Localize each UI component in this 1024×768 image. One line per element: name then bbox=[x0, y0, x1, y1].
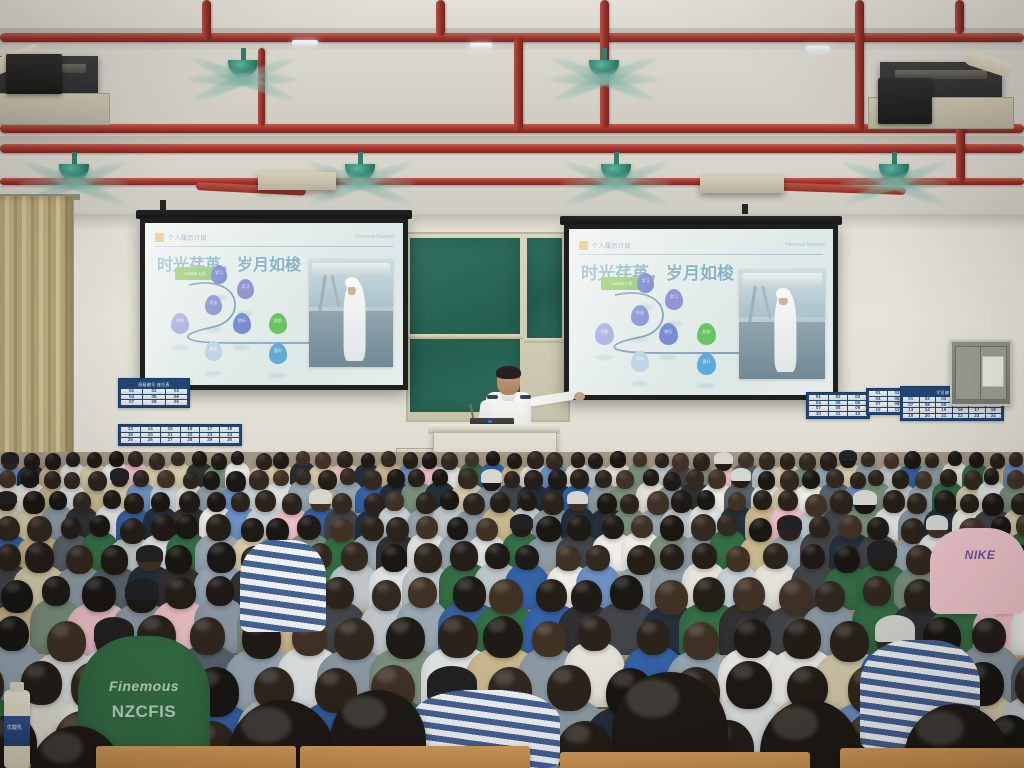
audience-cap bbox=[777, 515, 803, 531]
hair-highlight bbox=[518, 547, 529, 555]
number-cell: 10 bbox=[809, 412, 828, 417]
hair-highlight bbox=[570, 517, 581, 525]
ceiling-light-1 bbox=[292, 40, 318, 45]
audience-head bbox=[663, 472, 682, 492]
hair-highlight bbox=[466, 494, 476, 501]
timeline-pin-1: 学习 bbox=[637, 273, 654, 293]
hair-highlight bbox=[729, 548, 740, 556]
hair-highlight bbox=[582, 618, 597, 629]
number-cell: 09 bbox=[848, 406, 867, 411]
hair-highlight bbox=[870, 471, 877, 476]
audience-head bbox=[441, 452, 458, 470]
sprinkler-pipe-drop-1 bbox=[202, 0, 211, 40]
audience-head bbox=[536, 516, 561, 543]
hair-highlight bbox=[626, 679, 679, 718]
number-board-right-inner: 010203040506070809101112 bbox=[806, 392, 870, 419]
hair-highlight bbox=[908, 581, 923, 592]
hair-highlight bbox=[673, 492, 683, 499]
audience-head bbox=[171, 452, 185, 467]
hair-highlight bbox=[182, 492, 192, 499]
window-curtain bbox=[0, 196, 74, 486]
sprinkler-pipe-drop-2 bbox=[436, 0, 445, 36]
drink-bottle: 优酸乳 bbox=[4, 690, 30, 768]
audience-head bbox=[830, 621, 868, 662]
audience-head bbox=[982, 493, 1004, 516]
hair-highlight bbox=[985, 494, 995, 501]
hair-highlight bbox=[376, 582, 389, 592]
hair-highlight bbox=[752, 519, 763, 527]
hair-highlight bbox=[241, 707, 291, 743]
pin-label: 毕业 bbox=[210, 300, 218, 306]
audience-head bbox=[341, 542, 368, 570]
number-cell: 22 bbox=[953, 414, 969, 419]
audience-head bbox=[297, 515, 320, 540]
hair-highlight bbox=[29, 544, 42, 554]
audience-head bbox=[671, 490, 693, 513]
hair-highlight bbox=[488, 618, 506, 632]
hair-highlight bbox=[252, 471, 261, 477]
audience-head bbox=[416, 492, 436, 514]
audience-cap bbox=[125, 578, 159, 600]
hair-highlight bbox=[454, 543, 467, 552]
hair-highlight bbox=[740, 453, 747, 458]
pin-label: 航行 bbox=[238, 318, 246, 324]
audience-head bbox=[49, 491, 67, 510]
audience-head bbox=[892, 470, 909, 488]
audience-head bbox=[655, 580, 687, 614]
hair-highlight bbox=[552, 668, 572, 683]
hair-highlight bbox=[782, 472, 791, 479]
audience-head bbox=[686, 469, 704, 488]
hair-highlight bbox=[985, 469, 992, 474]
hair-highlight bbox=[127, 494, 136, 501]
audience-cap bbox=[0, 491, 17, 504]
number-cell: 23 bbox=[969, 414, 985, 419]
hair-highlight bbox=[574, 582, 588, 593]
timeline-pin-1: 学习 bbox=[211, 265, 227, 284]
audience-head bbox=[637, 619, 670, 654]
hair-highlight bbox=[687, 624, 704, 636]
audience-head bbox=[61, 517, 82, 539]
panel-door-left bbox=[955, 346, 983, 401]
audience-head bbox=[683, 622, 719, 661]
presenter-hair bbox=[496, 366, 521, 379]
number-cell: 08 bbox=[143, 400, 164, 405]
hair-highlight bbox=[173, 452, 179, 457]
number-cell: 16 bbox=[953, 408, 969, 413]
slide-photo-left bbox=[309, 259, 393, 367]
audience-head bbox=[109, 451, 124, 467]
audience-head bbox=[363, 470, 382, 490]
hair-highlight bbox=[488, 544, 499, 552]
hair-highlight bbox=[244, 520, 254, 528]
hair-highlight bbox=[23, 470, 31, 476]
hair-highlight bbox=[45, 578, 58, 588]
hair-highlight bbox=[787, 621, 805, 634]
hair-highlight bbox=[194, 619, 210, 631]
pin-label: 毕业 bbox=[636, 310, 644, 316]
audience-head bbox=[489, 579, 522, 614]
audience-head bbox=[25, 542, 54, 572]
audience-head bbox=[207, 542, 236, 573]
hair-highlight bbox=[366, 494, 375, 501]
audience-head bbox=[1007, 470, 1024, 489]
audience-head bbox=[408, 577, 437, 608]
hair-highlight bbox=[966, 471, 974, 477]
audience-head bbox=[556, 546, 580, 572]
audience-head bbox=[42, 576, 70, 606]
audience-head bbox=[416, 516, 438, 539]
audience-head bbox=[597, 493, 617, 514]
audience-head bbox=[87, 452, 102, 468]
ceiling-light-2 bbox=[470, 43, 492, 48]
hair-highlight bbox=[600, 495, 609, 502]
audience-head bbox=[386, 617, 425, 659]
audience-head bbox=[176, 514, 199, 538]
audience-head bbox=[296, 451, 310, 466]
audience-head bbox=[631, 515, 653, 538]
number-cell: 02 bbox=[829, 395, 848, 400]
audience-head bbox=[231, 451, 245, 466]
hair-highlight bbox=[90, 472, 99, 478]
number-board-header: 班级编号 座位表 bbox=[121, 381, 187, 388]
number-cell: 20 bbox=[920, 414, 936, 419]
hair-highlight bbox=[317, 453, 324, 458]
hair-highlight bbox=[339, 621, 357, 635]
hair-highlight bbox=[169, 547, 181, 556]
audience-head bbox=[815, 581, 845, 613]
timeline-pin-7: 值班 bbox=[205, 341, 222, 361]
audience-head bbox=[206, 576, 234, 606]
audience-head bbox=[458, 468, 477, 488]
audience-head bbox=[809, 516, 830, 538]
audience-cap bbox=[853, 490, 877, 505]
pin-label: 任职 bbox=[601, 329, 609, 335]
number-cell: 25 bbox=[121, 438, 140, 443]
pin-label: 晋升 bbox=[274, 348, 282, 354]
hair-highlight bbox=[828, 470, 836, 476]
photo-officer-face bbox=[779, 297, 788, 306]
number-cell: 24 bbox=[986, 414, 1002, 419]
audience-head bbox=[340, 468, 356, 485]
number-cell: 01 bbox=[903, 397, 919, 402]
audience-head bbox=[758, 471, 775, 489]
hair-highlight bbox=[376, 667, 396, 682]
hair-highlight bbox=[123, 519, 134, 527]
hair-highlight bbox=[443, 618, 461, 632]
hair-highlight bbox=[526, 472, 534, 478]
hair-highlight bbox=[665, 473, 674, 479]
hair-highlight bbox=[159, 471, 167, 477]
audience-head bbox=[124, 493, 143, 513]
audience-head bbox=[519, 492, 537, 511]
hair-highlight bbox=[783, 581, 799, 592]
audience-head bbox=[595, 470, 612, 488]
hair-highlight bbox=[391, 619, 409, 632]
audience-head bbox=[504, 471, 520, 488]
hair-highlight bbox=[178, 516, 189, 524]
sprinkler-pipe-drop-6 bbox=[955, 0, 964, 34]
hair-highlight bbox=[656, 454, 663, 459]
audience-head bbox=[273, 470, 289, 487]
timeline-pin-5: 航行 bbox=[659, 323, 678, 345]
hair-highlight bbox=[51, 492, 59, 498]
timeline-pin-2: 实习 bbox=[237, 279, 254, 299]
number-cell: 29 bbox=[200, 438, 219, 443]
hair-highlight bbox=[837, 547, 849, 556]
timeline-pin-3: 毕业 bbox=[631, 305, 649, 326]
number-cell: 18 bbox=[986, 408, 1002, 413]
hair-highlight bbox=[450, 518, 460, 525]
presenter-hand bbox=[574, 392, 585, 401]
pin-label: 机务 bbox=[274, 318, 282, 324]
pin-label: 航行 bbox=[665, 329, 673, 335]
hair-highlight bbox=[732, 663, 753, 678]
hair-highlight bbox=[86, 578, 102, 590]
number-cell: 03 bbox=[848, 395, 867, 400]
audience-head bbox=[206, 514, 231, 541]
hair-highlight bbox=[405, 453, 412, 458]
hair-highlight bbox=[105, 491, 113, 497]
hair-highlight bbox=[418, 494, 427, 501]
number-cell: 13 bbox=[121, 427, 140, 432]
audience-head bbox=[381, 544, 407, 572]
audience-head bbox=[149, 453, 165, 470]
hair-highlight bbox=[590, 453, 597, 458]
audience-head bbox=[734, 619, 771, 658]
ac-diffuser bbox=[0, 93, 110, 125]
hair-highlight bbox=[488, 452, 495, 457]
audience-head bbox=[476, 518, 498, 541]
audience-head bbox=[21, 469, 39, 488]
audience-head bbox=[972, 618, 1005, 653]
audience-head bbox=[672, 453, 689, 470]
pin-label: 晋升 bbox=[703, 359, 711, 365]
hair-highlight bbox=[1013, 494, 1023, 501]
audience-head bbox=[0, 516, 20, 542]
hair-highlight bbox=[457, 578, 472, 589]
audience-head bbox=[334, 618, 374, 660]
audience-head bbox=[463, 493, 484, 516]
hair-highlight bbox=[25, 664, 44, 678]
hair-highlight bbox=[545, 493, 555, 501]
hair-highlight bbox=[169, 579, 183, 589]
audience-head bbox=[633, 452, 647, 467]
lecture-hall-photo: 个人履历介绍 Personal Resume 时光荏苒，岁月如梭 2006年入学… bbox=[0, 0, 1024, 768]
audience-head bbox=[386, 517, 409, 541]
audience-head bbox=[733, 577, 765, 611]
audience-head bbox=[780, 470, 799, 491]
audience-head bbox=[486, 451, 500, 466]
hair-highlight bbox=[622, 495, 631, 501]
audience-head bbox=[157, 470, 175, 489]
hair-highlight bbox=[1009, 471, 1017, 477]
hair-highlight bbox=[801, 454, 809, 460]
audience-head bbox=[780, 453, 796, 470]
number-cell: 09 bbox=[166, 400, 187, 405]
audience-head bbox=[438, 615, 478, 657]
audience-head bbox=[453, 576, 486, 611]
hair-highlight bbox=[612, 671, 634, 687]
audience-head bbox=[66, 452, 80, 467]
hair-highlight bbox=[904, 520, 915, 528]
number-board-left-lower: 131415161718192021222324252627282930 bbox=[118, 424, 242, 446]
hair-highlight bbox=[258, 492, 268, 499]
hair-highlight bbox=[26, 492, 36, 499]
hair-highlight bbox=[423, 453, 430, 458]
audience-cap bbox=[481, 469, 502, 483]
audience-head bbox=[372, 580, 401, 611]
ac-unit-mid-right bbox=[700, 176, 784, 193]
number-cell: 12 bbox=[848, 412, 867, 417]
audience-head bbox=[192, 451, 207, 467]
hair-highlight bbox=[300, 517, 311, 525]
slide-start-label: 2006年入学 bbox=[612, 281, 633, 287]
sprinkler-pipe-horizontal-mid2 bbox=[0, 144, 1024, 153]
number-cell: 26 bbox=[141, 438, 160, 443]
pin-label: 值班 bbox=[210, 346, 218, 352]
hair-highlight bbox=[104, 547, 117, 556]
audience-head bbox=[834, 546, 860, 573]
hair-highlight bbox=[949, 452, 956, 457]
audience-head bbox=[73, 492, 91, 511]
audience-head bbox=[408, 469, 425, 487]
number-cell: 21 bbox=[936, 414, 952, 419]
hair-highlight bbox=[52, 623, 70, 636]
audience-head bbox=[203, 471, 220, 489]
hair-highlight bbox=[234, 493, 243, 499]
audience-head bbox=[759, 452, 775, 469]
audience-head bbox=[763, 543, 788, 570]
number-cell: 03 bbox=[166, 389, 187, 394]
audience-head bbox=[440, 490, 458, 510]
hair-highlight bbox=[258, 454, 266, 460]
hair-highlight bbox=[614, 577, 629, 588]
number-cell: 10 bbox=[869, 408, 887, 413]
audience-head bbox=[0, 616, 29, 651]
hair-highlight bbox=[991, 454, 998, 459]
audience-head bbox=[44, 471, 61, 489]
hair-highlight bbox=[589, 547, 600, 555]
hair-highlight bbox=[804, 471, 812, 477]
hair-highlight bbox=[364, 517, 375, 525]
hair-highlight bbox=[0, 546, 11, 555]
hair-highlight bbox=[338, 452, 345, 458]
audience-head bbox=[524, 470, 542, 489]
hair-highlight bbox=[870, 519, 880, 526]
hair-highlight bbox=[443, 453, 451, 459]
audience-head bbox=[315, 452, 331, 469]
number-cell: 07 bbox=[869, 402, 887, 407]
hair-highlight bbox=[720, 515, 729, 522]
shirt-logo-nike: NIKE bbox=[944, 548, 1016, 562]
hair-highlight bbox=[812, 517, 821, 524]
hair-highlight bbox=[559, 547, 570, 555]
audience-head bbox=[799, 453, 816, 471]
hair-highlight bbox=[297, 470, 304, 475]
presenter-epaulet-right bbox=[520, 395, 531, 399]
audience-head bbox=[779, 579, 813, 615]
audience-head bbox=[403, 452, 419, 469]
hair-highlight bbox=[688, 470, 696, 476]
chalkboard-rail bbox=[408, 334, 523, 339]
photo-officer-cap bbox=[345, 277, 358, 287]
hair-highlight bbox=[694, 516, 706, 525]
hair-highlight bbox=[755, 491, 764, 497]
audience-head bbox=[414, 543, 442, 572]
hair-highlight bbox=[150, 454, 157, 459]
pin-shadow bbox=[631, 381, 648, 386]
number-cell: 19 bbox=[903, 414, 919, 419]
hair-highlight bbox=[695, 454, 703, 460]
audience-head bbox=[337, 451, 353, 468]
hair-highlight bbox=[772, 706, 818, 740]
timeline-pin-8: 晋升 bbox=[697, 353, 716, 375]
number-cell: 01 bbox=[809, 395, 828, 400]
audience-head bbox=[726, 661, 772, 709]
audience-head bbox=[249, 470, 268, 490]
number-board-left: 班级编号 座位表 010203040506070809 bbox=[118, 378, 190, 408]
hair-highlight bbox=[842, 516, 853, 524]
timeline-pin-7: 值班 bbox=[631, 351, 649, 372]
hair-highlight bbox=[916, 711, 964, 746]
hair-highlight bbox=[659, 582, 674, 593]
hair-highlight bbox=[410, 470, 418, 476]
hair-highlight bbox=[633, 516, 643, 523]
photo-officer-cap bbox=[776, 288, 790, 298]
hair-highlight bbox=[298, 452, 305, 457]
hair-highlight bbox=[674, 454, 682, 460]
hair-highlight bbox=[663, 546, 674, 554]
audience-head bbox=[826, 469, 844, 488]
audience-head bbox=[693, 453, 710, 471]
audience-head bbox=[165, 545, 192, 573]
hair-highlight bbox=[209, 493, 218, 499]
pin-shadow bbox=[697, 383, 715, 388]
audience-head bbox=[23, 491, 44, 514]
audience-head bbox=[0, 544, 21, 571]
ac-unit-mid-left bbox=[258, 172, 336, 190]
audience-head bbox=[883, 490, 904, 513]
audience-head bbox=[547, 665, 590, 711]
audience-head bbox=[960, 494, 978, 513]
audience-head bbox=[266, 518, 289, 542]
hair-highlight bbox=[641, 622, 656, 633]
audience-torso-striped bbox=[240, 540, 326, 632]
hair-highlight bbox=[0, 618, 15, 629]
audience-head bbox=[515, 545, 539, 570]
pin-shadow bbox=[233, 345, 250, 350]
panel-notice-paper bbox=[982, 356, 1004, 388]
number-cell: 07 bbox=[121, 400, 142, 405]
audience-cap bbox=[136, 545, 162, 562]
hair-highlight bbox=[662, 517, 673, 525]
hair-highlight bbox=[154, 515, 166, 524]
audience-head bbox=[483, 616, 523, 659]
audience-head bbox=[27, 516, 52, 542]
hair-highlight bbox=[232, 451, 238, 456]
hair-highlight bbox=[153, 493, 162, 500]
hair-highlight bbox=[327, 579, 341, 589]
hair-highlight bbox=[564, 724, 590, 743]
hair-highlight bbox=[320, 671, 339, 685]
audience-head bbox=[546, 452, 563, 470]
pin-label: 实习 bbox=[242, 284, 250, 290]
hair-highlight bbox=[389, 470, 397, 476]
hair-highlight bbox=[894, 471, 902, 477]
audience-head bbox=[231, 492, 250, 512]
audience-head bbox=[255, 490, 276, 512]
